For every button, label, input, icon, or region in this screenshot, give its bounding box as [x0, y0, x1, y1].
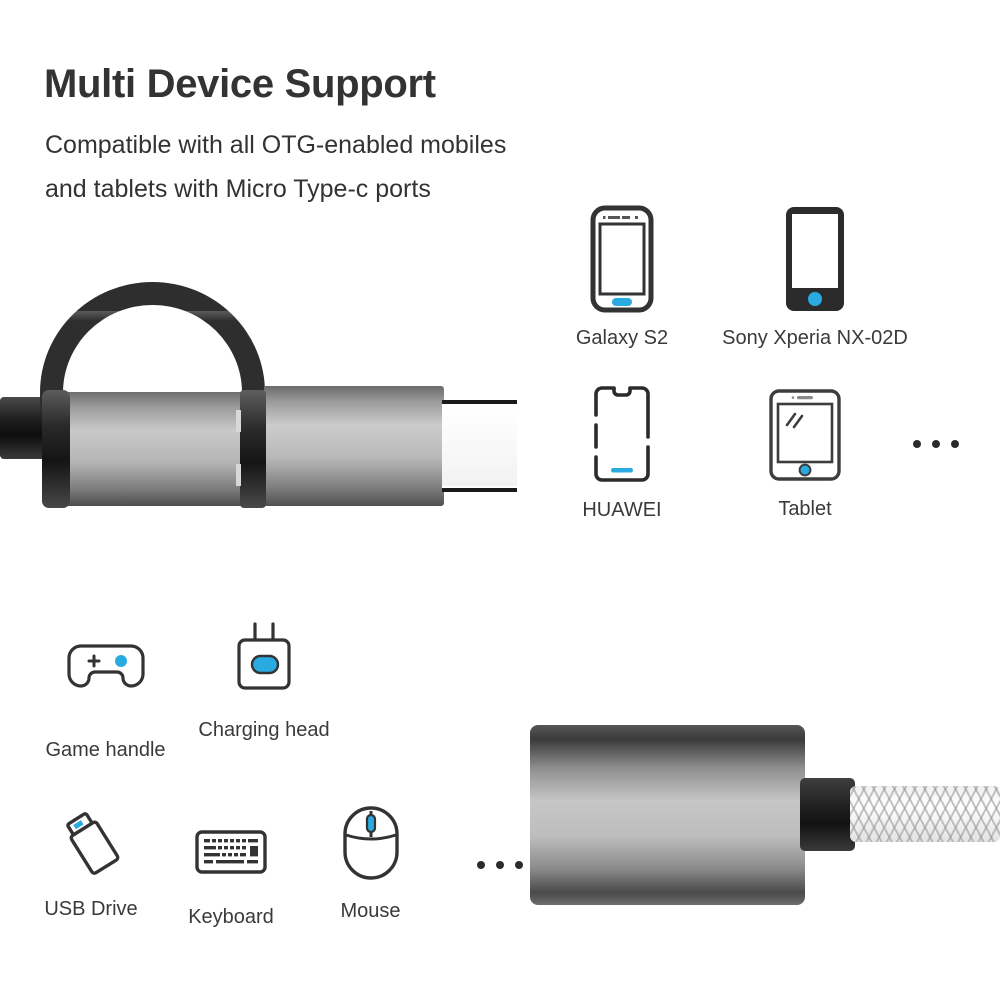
braided-cable	[850, 786, 1000, 842]
device-item-sony-xperia: Sony Xperia NX-02D	[710, 205, 920, 350]
device-item-huawei: HUAWEI	[562, 385, 682, 522]
device-more-indicator	[913, 440, 959, 448]
device-label: HUAWEI	[562, 499, 682, 522]
device-label: Sony Xperia NX-02D	[710, 327, 920, 350]
mouse-icon	[318, 805, 423, 886]
accessory-label: Charging head	[190, 719, 338, 742]
connector-seam-top	[236, 410, 241, 432]
dot	[951, 440, 959, 448]
tablet-icon	[745, 388, 865, 487]
power-adapter-icon	[190, 620, 338, 697]
product-feature-image: Multi Device Support Compatible with all…	[0, 0, 1000, 1000]
accessory-item-charging-head: Charging head	[190, 620, 338, 742]
dot	[932, 440, 940, 448]
connector-plug-tip	[442, 400, 517, 492]
accessory-label: Mouse	[318, 900, 423, 923]
keyboard-icon	[170, 828, 292, 881]
accessory-item-keyboard: Keyboard	[170, 828, 292, 929]
accessory-item-usb-drive: USB Drive	[26, 805, 156, 921]
connector-seam-bottom	[236, 464, 241, 486]
connector-barrel-micro-usb	[62, 392, 242, 506]
subtitle-line-2: and tablets with Micro Type-c ports	[45, 175, 431, 204]
phone-xperia-icon	[710, 205, 920, 318]
device-item-galaxy-s2: Galaxy S2	[562, 205, 682, 350]
page-title: Multi Device Support	[44, 62, 436, 107]
two-in-one-connector-image	[0, 282, 545, 507]
accessory-label: USB Drive	[26, 898, 156, 921]
phone-huawei-notch-icon	[562, 385, 682, 488]
device-item-tablet: Tablet	[745, 388, 865, 521]
gamepad-icon	[28, 640, 183, 697]
device-label: Galaxy S2	[562, 327, 682, 350]
dot	[913, 440, 921, 448]
usb-a-adapter-image	[470, 700, 1000, 920]
accessory-item-game-handle: Game handle	[28, 640, 183, 762]
accessory-label: Keyboard	[170, 906, 292, 929]
connector-middle-band	[240, 390, 266, 508]
usb-a-strain-relief	[800, 778, 855, 851]
phone-galaxy-icon	[562, 205, 682, 318]
connector-collar	[42, 390, 70, 508]
usb-flash-drive-icon	[26, 805, 156, 888]
accessory-label: Game handle	[28, 739, 183, 762]
subtitle-line-1: Compatible with all OTG-enabled mobiles	[45, 131, 506, 160]
device-label: Tablet	[745, 498, 865, 521]
connector-barrel-type-c	[264, 386, 444, 506]
accessory-item-mouse: Mouse	[318, 805, 423, 923]
usb-a-metal-housing	[530, 725, 805, 905]
